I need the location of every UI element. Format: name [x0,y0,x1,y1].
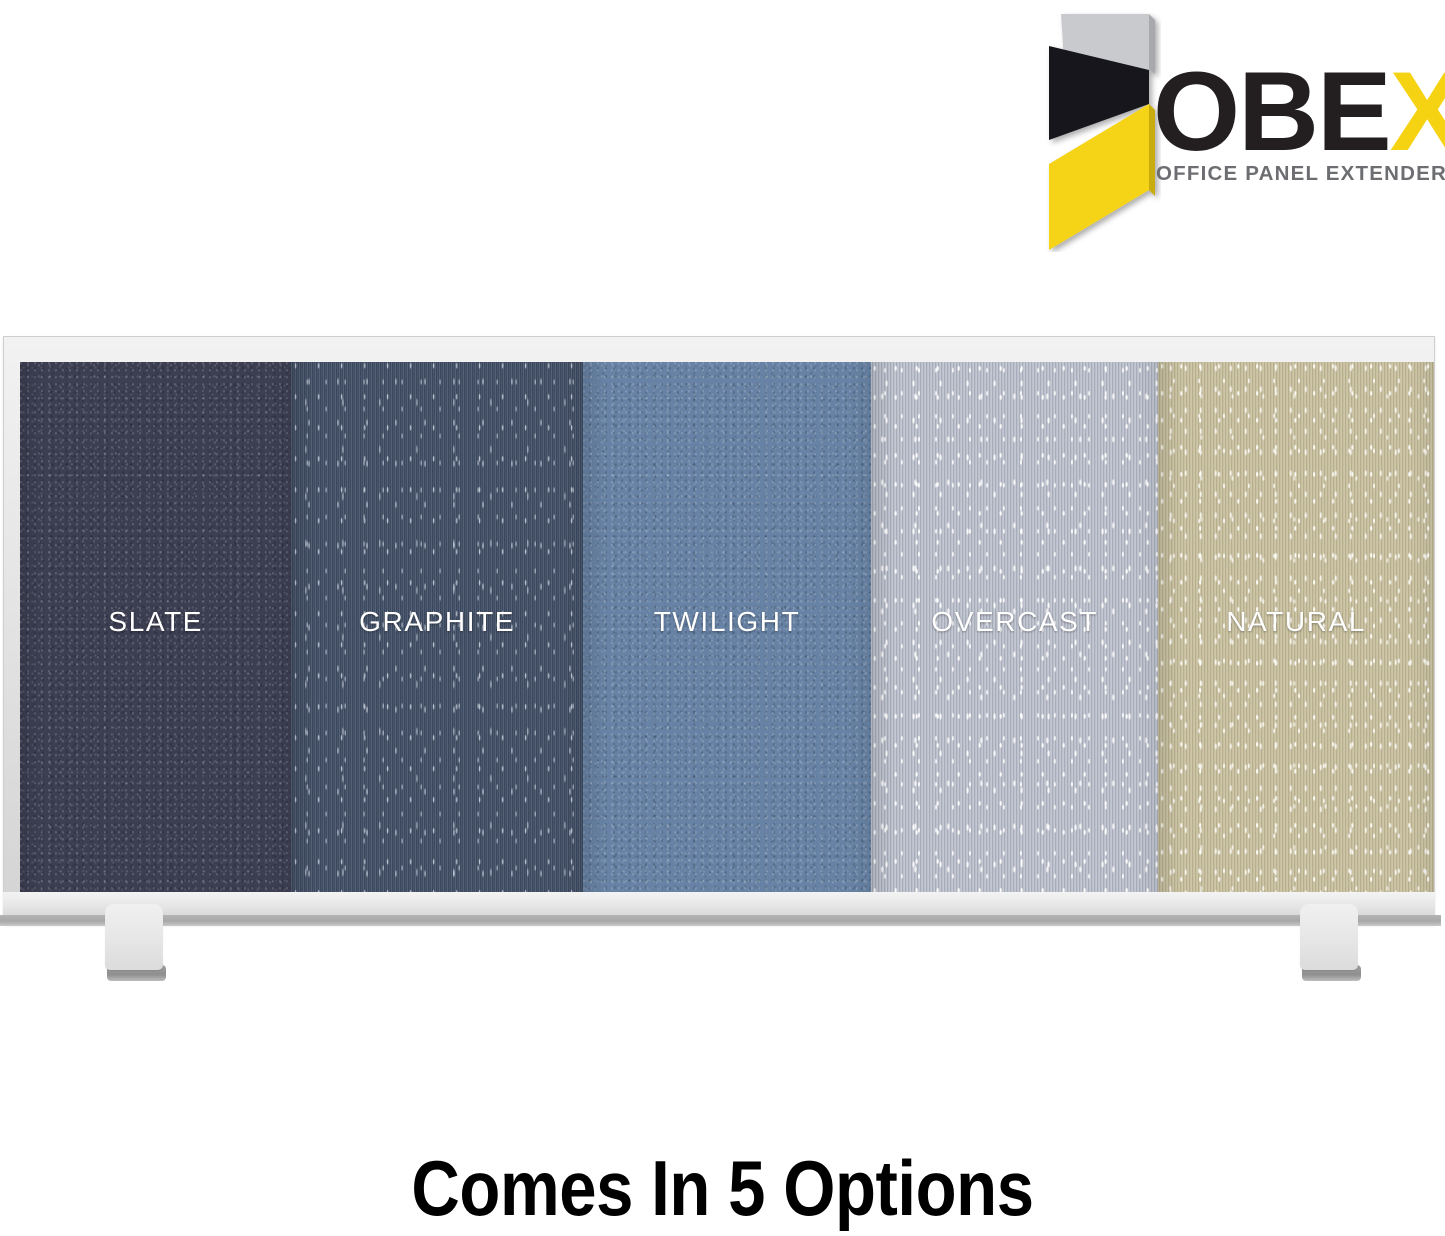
fabric-swatch-strip: SLATEGRAPHITETWILIGHTOVERCASTNATURAL [20,362,1434,895]
fabric-swatch-label: OVERCAST [931,606,1098,638]
fabric-swatch-label: TWILIGHT [654,606,801,638]
obex-wordmark-lead: OBE [1153,49,1390,174]
panel-foot-right [1300,904,1358,970]
obex-wordmark: OBEX OFFICE PANEL EXTENDERS [1153,56,1421,216]
obex-tagline: OFFICE PANEL EXTENDERS [1156,162,1421,186]
fabric-swatch-graphite[interactable]: GRAPHITE [291,362,582,895]
fabric-swatch-twilight[interactable]: TWILIGHT [583,362,871,895]
panel-rail-shadow [0,915,1441,926]
panel-frame: SLATEGRAPHITETWILIGHTOVERCASTNATURAL [3,336,1435,925]
panel-bottom-rail [3,892,1435,915]
obex-logo-mark [1033,12,1161,252]
obex-wordmark-accent: X [1390,49,1445,174]
fabric-swatch-label: GRAPHITE [359,606,515,638]
caption-text: Comes In 5 Options [101,1143,1344,1234]
fabric-swatch-label: SLATE [108,606,203,638]
fabric-swatch-overcast[interactable]: OVERCAST [871,362,1158,895]
fabric-swatch-natural[interactable]: NATURAL [1158,362,1434,895]
obex-logo: OBEX OFFICE PANEL EXTENDERS [1025,8,1425,253]
fabric-swatch-label: NATURAL [1226,606,1366,638]
fabric-swatch-slate[interactable]: SLATE [20,362,291,895]
obex-wordmark-text: OBEX [1153,56,1421,168]
panel-assembly: SLATEGRAPHITETWILIGHTOVERCASTNATURAL [0,332,1445,992]
panel-foot-left [105,904,163,970]
